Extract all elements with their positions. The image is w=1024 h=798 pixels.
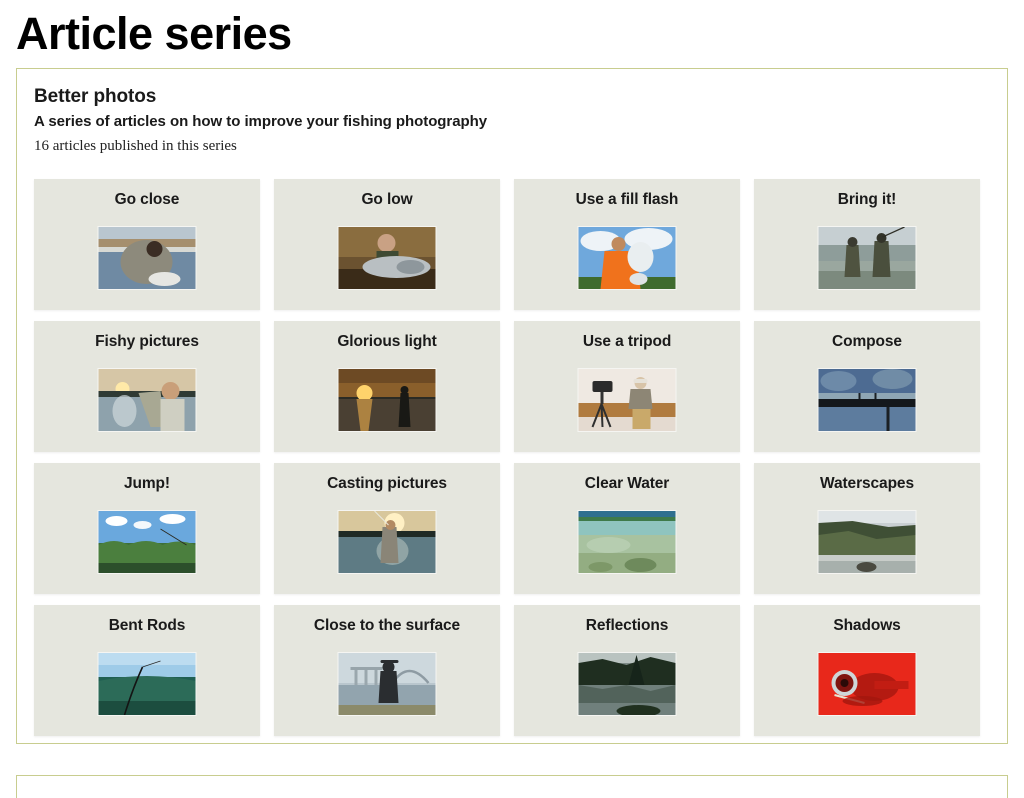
series-title: Better photos [34,85,1007,109]
article-card[interactable]: Compose [754,321,980,452]
article-card-title: Waterscapes [754,463,980,494]
article-card-title: Shadows [754,605,980,636]
article-card[interactable]: Jump! [34,463,260,594]
series-subtitle: A series of articles on how to improve y… [34,112,1007,132]
article-card-title: Go close [34,179,260,210]
article-thumbnail-angler-orange-shirt-with-fish[interactable] [579,227,676,289]
article-card-title: Clear Water [514,463,740,494]
article-card[interactable]: Bring it! [754,179,980,310]
article-thumbnail-angler-kneeling-in-river[interactable] [99,227,196,289]
article-card[interactable]: Casting pictures [274,463,500,594]
article-card-title: Jump! [34,463,260,494]
article-card-title: Close to the surface [274,605,500,636]
article-card[interactable]: Close to the surface [274,605,500,736]
article-card-grid: Go close Go low Use a fill flash Bring i… [34,179,1000,736]
article-card[interactable]: Waterscapes [754,463,980,594]
article-card-title: Fishy pictures [34,321,260,352]
article-thumbnail-sunset-angler-holding-pike[interactable] [99,369,196,431]
article-card-title: Go low [274,179,500,210]
page-root: Article series Better photos A series of… [0,0,1024,798]
article-card[interactable]: Use a tripod [514,321,740,452]
article-card-title: Bent Rods [34,605,260,636]
article-card[interactable]: Bent Rods [34,605,260,736]
article-thumbnail-bridge-over-blue-water[interactable] [819,369,916,431]
article-card[interactable]: Go close [34,179,260,310]
article-card[interactable]: Shadows [754,605,980,736]
article-card-title: Casting pictures [274,463,500,494]
article-card-title: Use a tripod [514,321,740,352]
article-thumbnail-sunset-over-water-silhouette[interactable] [339,369,436,431]
page-title: Article series [0,0,1024,62]
article-card[interactable]: Clear Water [514,463,740,594]
article-card-title: Glorious light [274,321,500,352]
article-thumbnail-rod-bent-over-sea-horizon[interactable] [99,653,196,715]
series-article-count: 16 articles published in this series [34,136,1007,156]
article-card-title: Bring it! [754,179,980,210]
series-panel: Better photos A series of articles on ho… [16,68,1008,744]
article-card[interactable]: Use a fill flash [514,179,740,310]
article-thumbnail-two-anglers-wading[interactable] [819,227,916,289]
article-thumbnail-clear-shallow-water-weed[interactable] [579,511,676,573]
article-card-title: Compose [754,321,980,352]
article-thumbnail-angler-casting-at-sunset[interactable] [339,511,436,573]
article-thumbnail-forest-reflected-in-lake[interactable] [579,653,676,715]
article-card-title: Use a fill flash [514,179,740,210]
series-header: Better photos A series of articles on ho… [17,69,1007,156]
article-card[interactable]: Glorious light [274,321,500,452]
article-thumbnail-blue-sky-over-green-reeds[interactable] [99,511,196,573]
article-thumbnail-wooded-cliff-shoreline[interactable] [819,511,916,573]
secondary-series-panel [16,775,1008,798]
article-thumbnail-angler-silhouette-by-bridge[interactable] [339,653,436,715]
article-thumbnail-camera-on-tripod-with-angler[interactable] [579,369,676,431]
article-card[interactable]: Fishy pictures [34,321,260,452]
article-thumbnail-red-background-fishing-reel[interactable] [819,653,916,715]
article-thumbnail-angler-holding-large-fish[interactable] [339,227,436,289]
article-card-title: Reflections [514,605,740,636]
article-card[interactable]: Go low [274,179,500,310]
article-card[interactable]: Reflections [514,605,740,736]
